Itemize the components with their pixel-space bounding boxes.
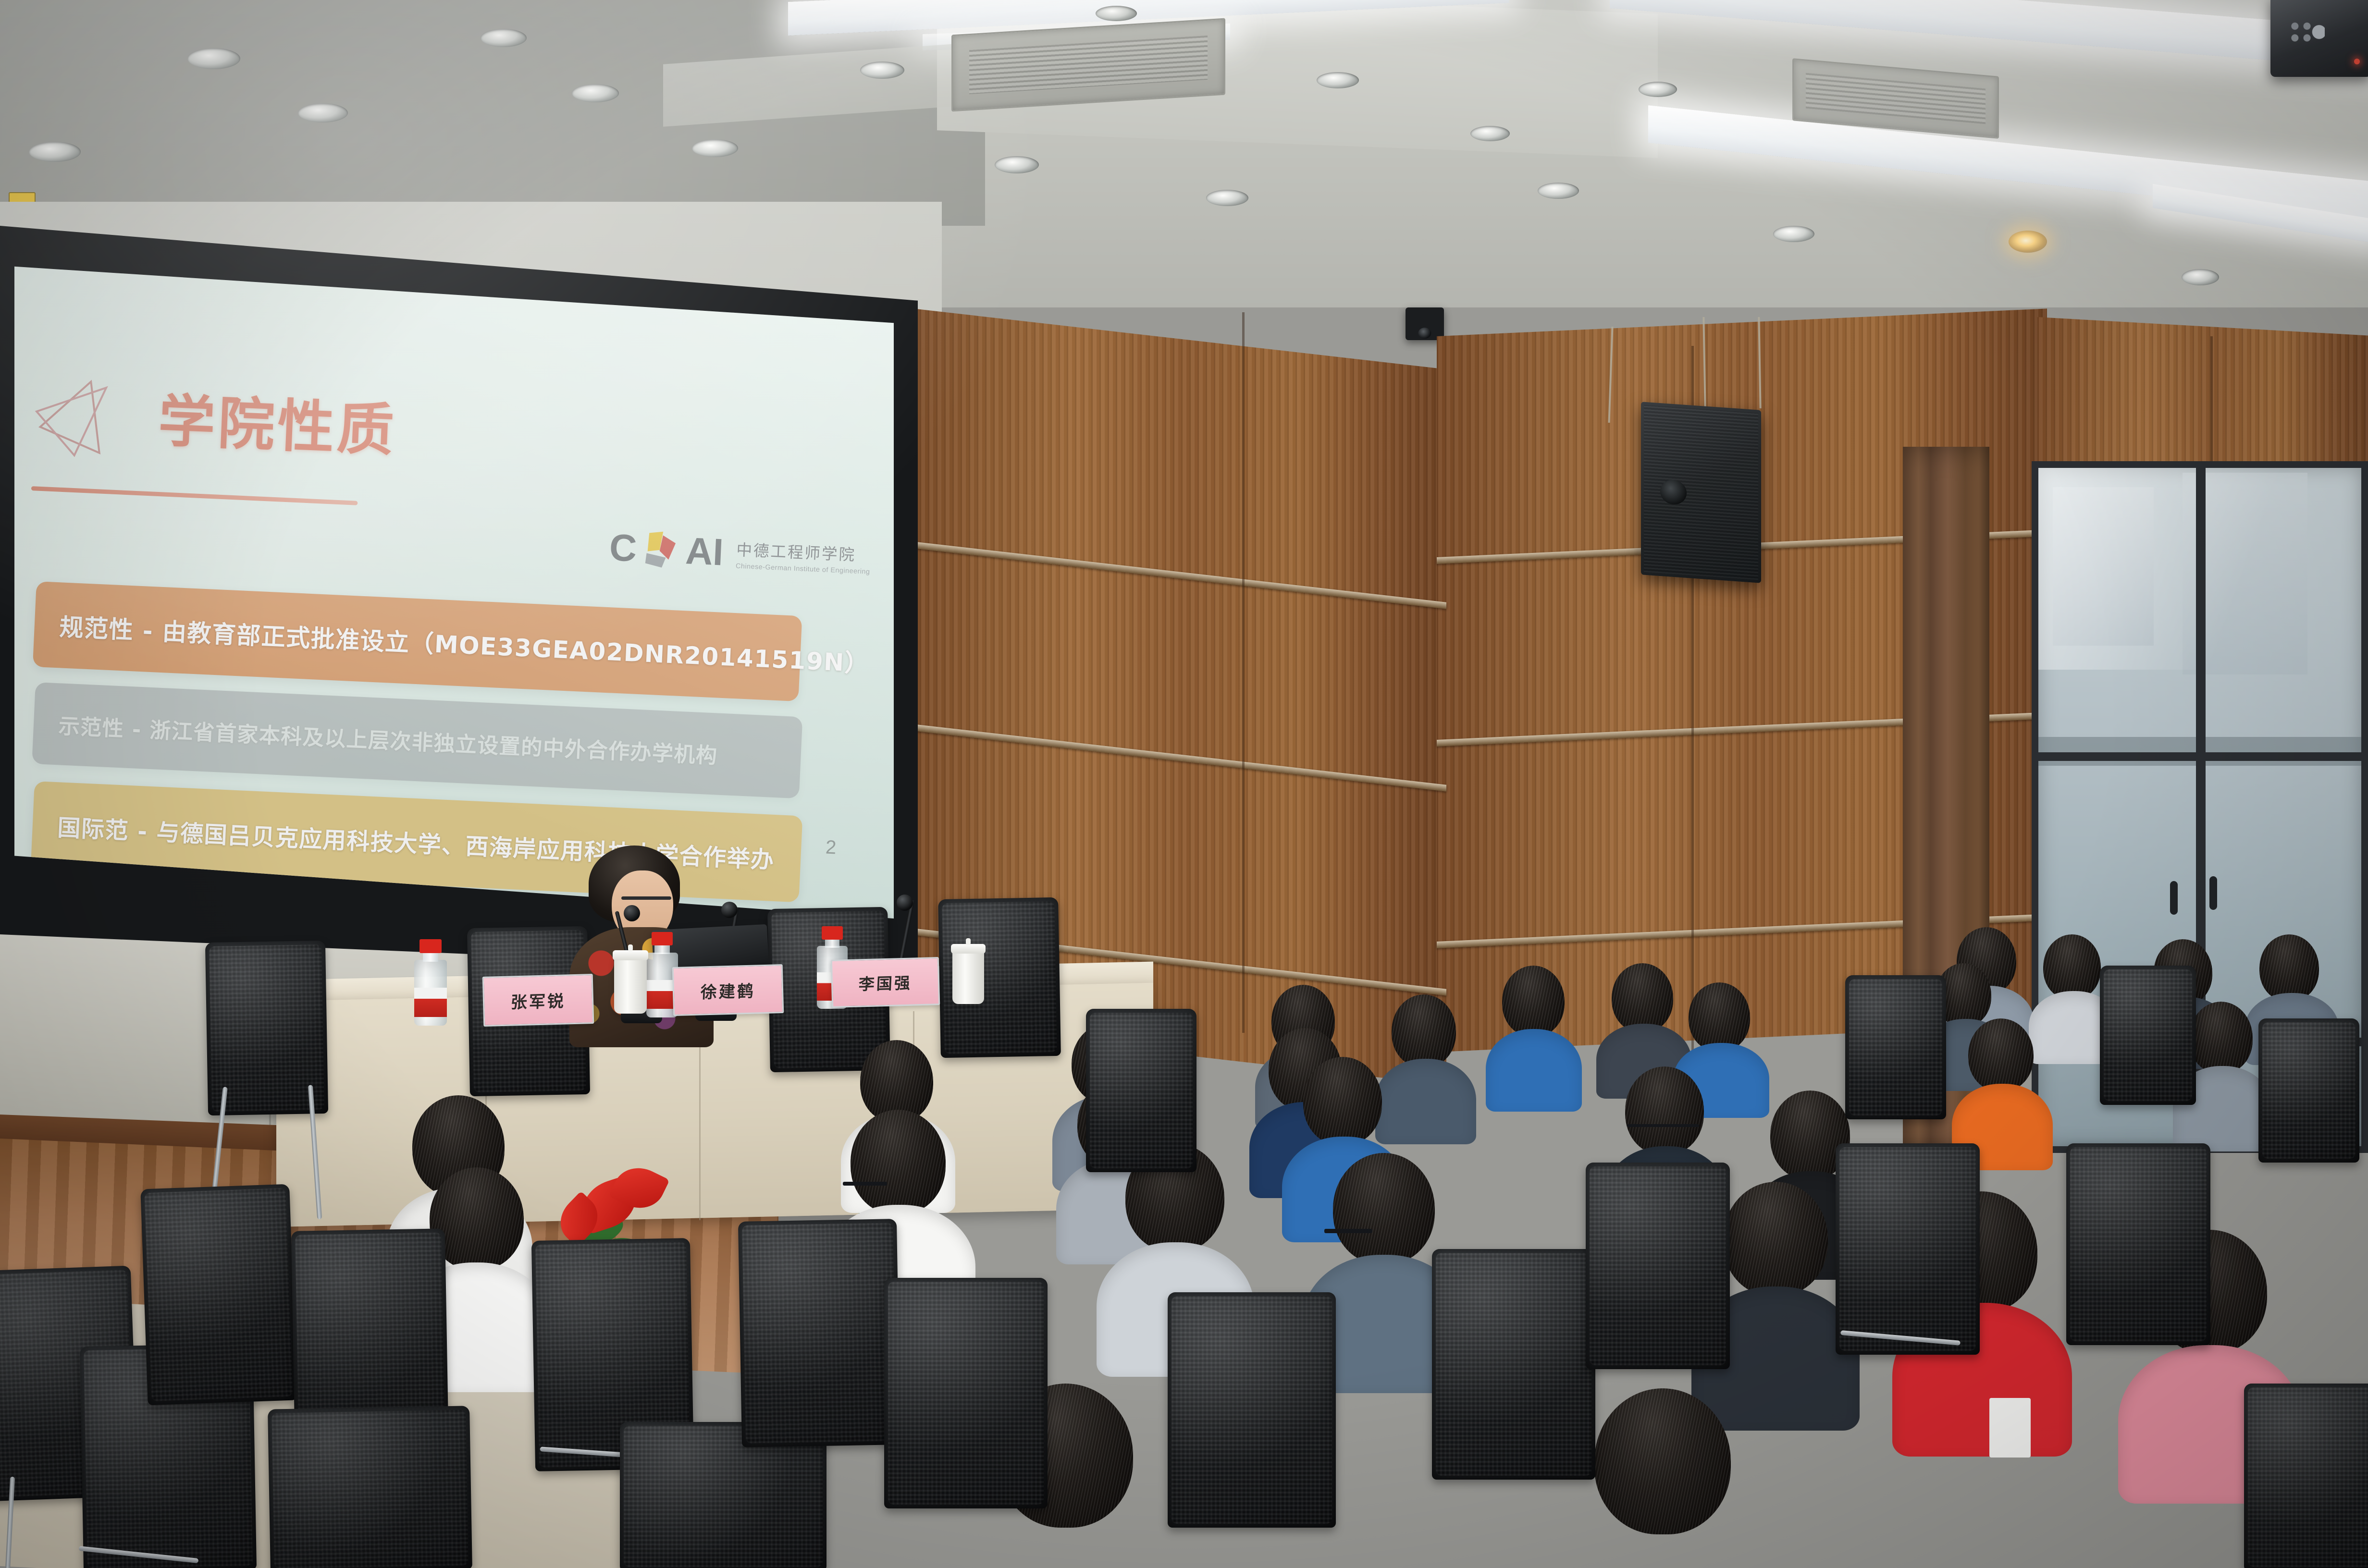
audience-glasses <box>843 1182 887 1186</box>
ceiling-projector <box>2270 0 2368 77</box>
slide-bullet-1-text: 规范性 - 由教育部正式批准设立（MOE33GEA02DNR20141519N） <box>59 608 870 679</box>
downlight <box>692 139 738 157</box>
stage-chair[interactable] <box>205 941 328 1115</box>
slide-bullet-2: 示范性 - 浙江省首家本科及以上层次非独立设置的中外合作办学机构 <box>32 682 802 798</box>
cdai-mark-icon <box>643 530 679 570</box>
audience-chair[interactable] <box>2244 1384 2368 1568</box>
audience-chair[interactable] <box>738 1219 900 1447</box>
downlight <box>1317 72 1359 88</box>
audience-glasses <box>1627 1124 1699 1127</box>
wall-seam <box>1242 312 1245 1033</box>
downlight <box>481 29 527 47</box>
audience-chair[interactable] <box>1086 1009 1196 1172</box>
audience-chair[interactable] <box>1168 1292 1336 1528</box>
downlight <box>29 142 81 162</box>
jersey-number <box>1989 1398 2031 1458</box>
downlight <box>1773 226 1814 242</box>
downlight <box>1639 82 1677 97</box>
audience-chair[interactable] <box>1836 1143 1980 1355</box>
audience-member <box>1490 966 1576 1100</box>
name-card-text: 徐建鹤 <box>700 978 756 1003</box>
downlight <box>298 103 348 122</box>
cdai-letters-ai: AI <box>685 532 724 572</box>
downlight <box>1538 183 1579 199</box>
audience-chair[interactable] <box>2258 1018 2359 1163</box>
downlight <box>860 61 904 79</box>
tea-mug[interactable] <box>614 957 647 1014</box>
downlight <box>572 84 619 102</box>
lecture-hall-photo: 学院性质 C AI 中德工程师学院 Chinese-German Institu… <box>0 0 2368 1568</box>
cdai-letter-c: C <box>609 529 638 568</box>
slide-content: 学院性质 C AI 中德工程师学院 Chinese-German Institu… <box>14 250 894 946</box>
audience-chair[interactable] <box>1432 1249 1595 1480</box>
audience-chair[interactable] <box>2066 1143 2210 1345</box>
audience-member <box>1956 1018 2047 1163</box>
name-card-text: 张军锐 <box>510 988 566 1013</box>
downlight <box>995 156 1039 173</box>
tea-mug[interactable] <box>952 950 984 1004</box>
cdai-logo: C AI 中德工程师学院 Chinese-German Institute of… <box>608 528 871 578</box>
name-card: 徐建鹤 <box>672 964 784 1016</box>
downlight <box>1096 6 1137 21</box>
audience-glasses <box>1324 1229 1372 1233</box>
slide-bullet-1: 规范性 - 由教育部正式批准设立（MOE33GEA02DNR20141519N） <box>33 581 802 701</box>
slide-title: 学院性质 <box>157 375 399 467</box>
audience-chair[interactable] <box>140 1184 297 1406</box>
audience-chair[interactable] <box>2100 966 2196 1105</box>
downlight <box>1206 190 1248 206</box>
title-underline <box>31 486 358 505</box>
triangle-outline-logo <box>32 375 122 460</box>
audience-member <box>1566 1388 1759 1568</box>
audience-chair[interactable] <box>884 1278 1048 1508</box>
wall-speaker <box>1641 402 1761 583</box>
audience-chair[interactable] <box>1845 975 1946 1119</box>
name-card: 李国强 <box>831 957 940 1008</box>
slide-bullet-2-text: 示范性 - 浙江省首家本科及以上层次非独立设置的中外合作办学机构 <box>58 709 718 769</box>
downlight-on <box>2009 231 2047 253</box>
downlight <box>2182 269 2219 285</box>
cdai-chinese-name: 中德工程师学院 <box>736 537 871 565</box>
name-card-text: 李国强 <box>858 970 913 995</box>
projection-screen: 学院性质 C AI 中德工程师学院 Chinese-German Institu… <box>14 250 894 946</box>
audience-chair[interactable] <box>268 1406 472 1568</box>
downlight <box>187 48 240 69</box>
slide-page-number: 2 <box>825 837 837 859</box>
downlight <box>1470 126 1510 141</box>
presenter-glasses <box>621 896 671 900</box>
audience-chair[interactable] <box>1586 1163 1730 1369</box>
name-card: 张军锐 <box>482 974 594 1027</box>
water-bottle[interactable] <box>414 939 447 1026</box>
ceiling-camera <box>1406 307 1444 340</box>
